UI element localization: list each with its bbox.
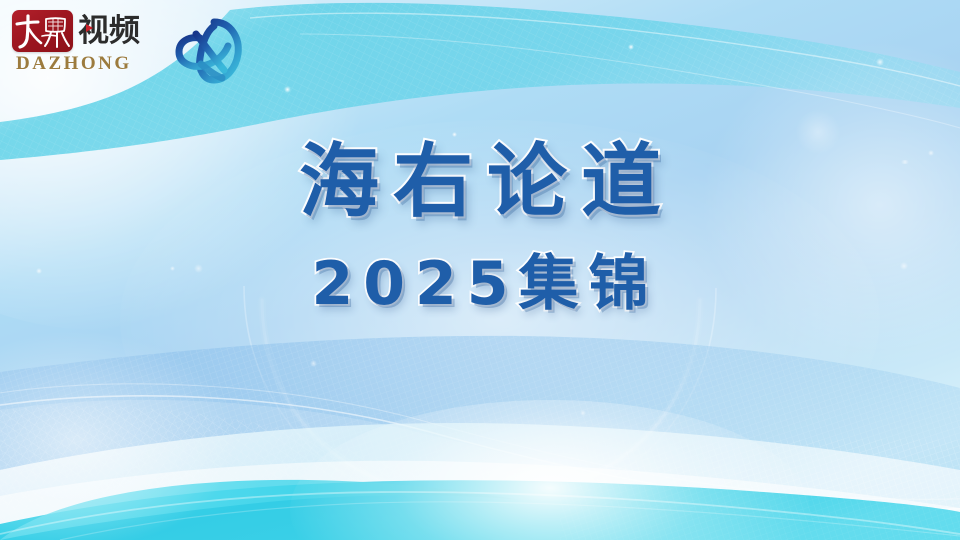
- page-subtitle: 2025集锦: [0, 235, 960, 322]
- sparkle: [284, 86, 291, 93]
- knot-logo-icon: [174, 14, 246, 86]
- dazhong-logo-cn-text: 视频: [78, 16, 140, 47]
- shandong-knot-logo[interactable]: [174, 14, 246, 91]
- glow-left-bottom: [0, 330, 240, 540]
- title-block: 海右论道 2025集锦: [0, 140, 960, 322]
- dazhong-seal-mark-icon: [12, 10, 73, 52]
- dazhong-logo-row: 视频: [12, 10, 140, 52]
- sparkle: [628, 44, 634, 50]
- glow-bottom-center: [290, 400, 810, 540]
- dazhong-logo-en-text: DAZHONG: [16, 53, 132, 75]
- title-card: 视频 DAZHONG 海右论道 2025集锦: [0, 0, 960, 540]
- sparkle: [580, 410, 586, 416]
- dazhong-video-logo[interactable]: 视频 DAZHONG: [12, 10, 152, 75]
- logo-bar: 视频 DAZHONG: [12, 10, 246, 91]
- sparkle: [310, 360, 317, 367]
- sparkle: [876, 58, 884, 66]
- play-triangle-icon: [86, 24, 93, 32]
- page-title: 海右论道: [0, 140, 960, 225]
